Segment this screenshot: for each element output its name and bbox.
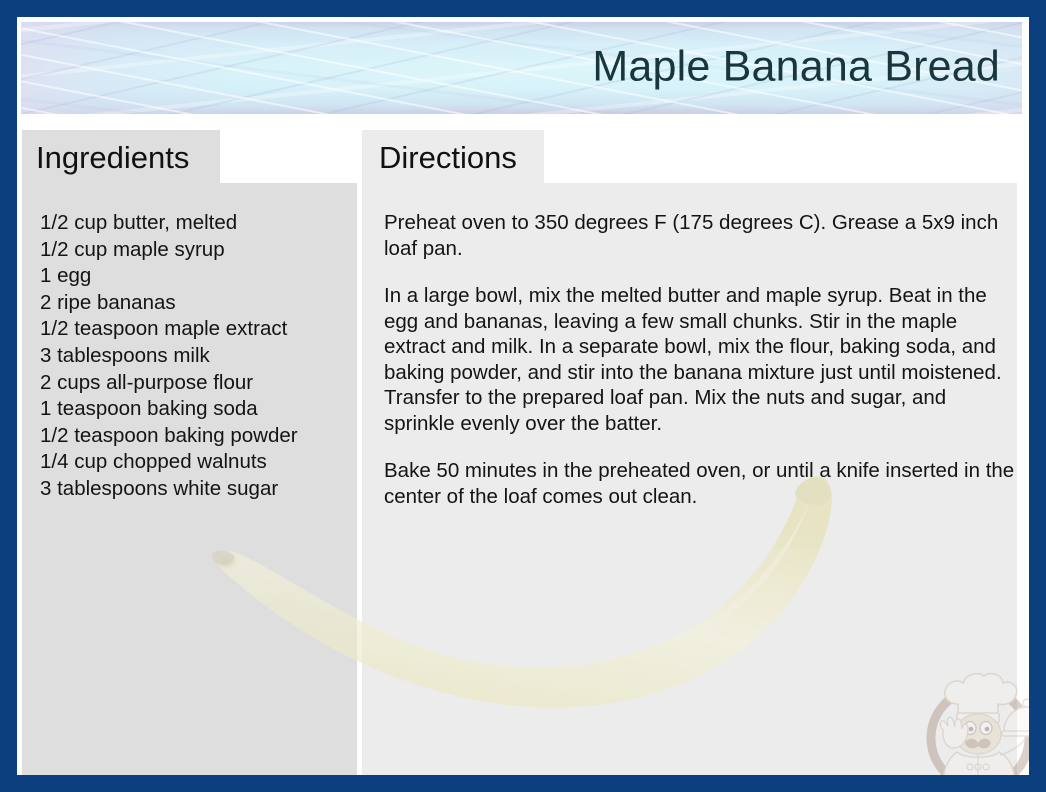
- tab-directions[interactable]: Directions: [362, 130, 544, 183]
- directions-text: Preheat oven to 350 degrees F (175 degre…: [384, 210, 1020, 509]
- ingredient-item: 1/4 cup chopped walnuts: [40, 449, 350, 476]
- direction-paragraph: Bake 50 minutes in the preheated oven, o…: [384, 458, 1020, 509]
- tab-ingredients[interactable]: Ingredients: [22, 130, 220, 183]
- ingredient-item: 3 tablespoons milk: [40, 343, 350, 370]
- ingredient-item: 1 egg: [40, 263, 350, 290]
- ingredient-item: 1/2 teaspoon maple extract: [40, 316, 350, 343]
- ingredient-item: 2 ripe bananas: [40, 290, 350, 317]
- ingredient-item: 1/2 cup maple syrup: [40, 237, 350, 264]
- recipe-card: Maple Banana Bread: [17, 17, 1029, 775]
- ingredient-item: 1/2 teaspoon baking powder: [40, 423, 350, 450]
- ingredient-item: 3 tablespoons white sugar: [40, 476, 350, 503]
- ingredients-list: 1/2 cup butter, melted1/2 cup maple syru…: [40, 210, 350, 503]
- ingredient-item: 1/2 cup butter, melted: [40, 210, 350, 237]
- direction-paragraph: Preheat oven to 350 degrees F (175 degre…: [384, 210, 1020, 261]
- header-banner: Maple Banana Bread: [21, 22, 1022, 114]
- direction-paragraph: In a large bowl, mix the melted butter a…: [384, 283, 1020, 436]
- tab-directions-label: Directions: [379, 140, 517, 175]
- ingredient-item: 2 cups all-purpose flour: [40, 370, 350, 397]
- recipe-card-page: Maple Banana Bread: [0, 0, 1046, 792]
- tab-ingredients-label: Ingredients: [36, 140, 189, 175]
- ingredient-item: 1 teaspoon baking soda: [40, 396, 350, 423]
- page-title: Maple Banana Bread: [592, 46, 1000, 89]
